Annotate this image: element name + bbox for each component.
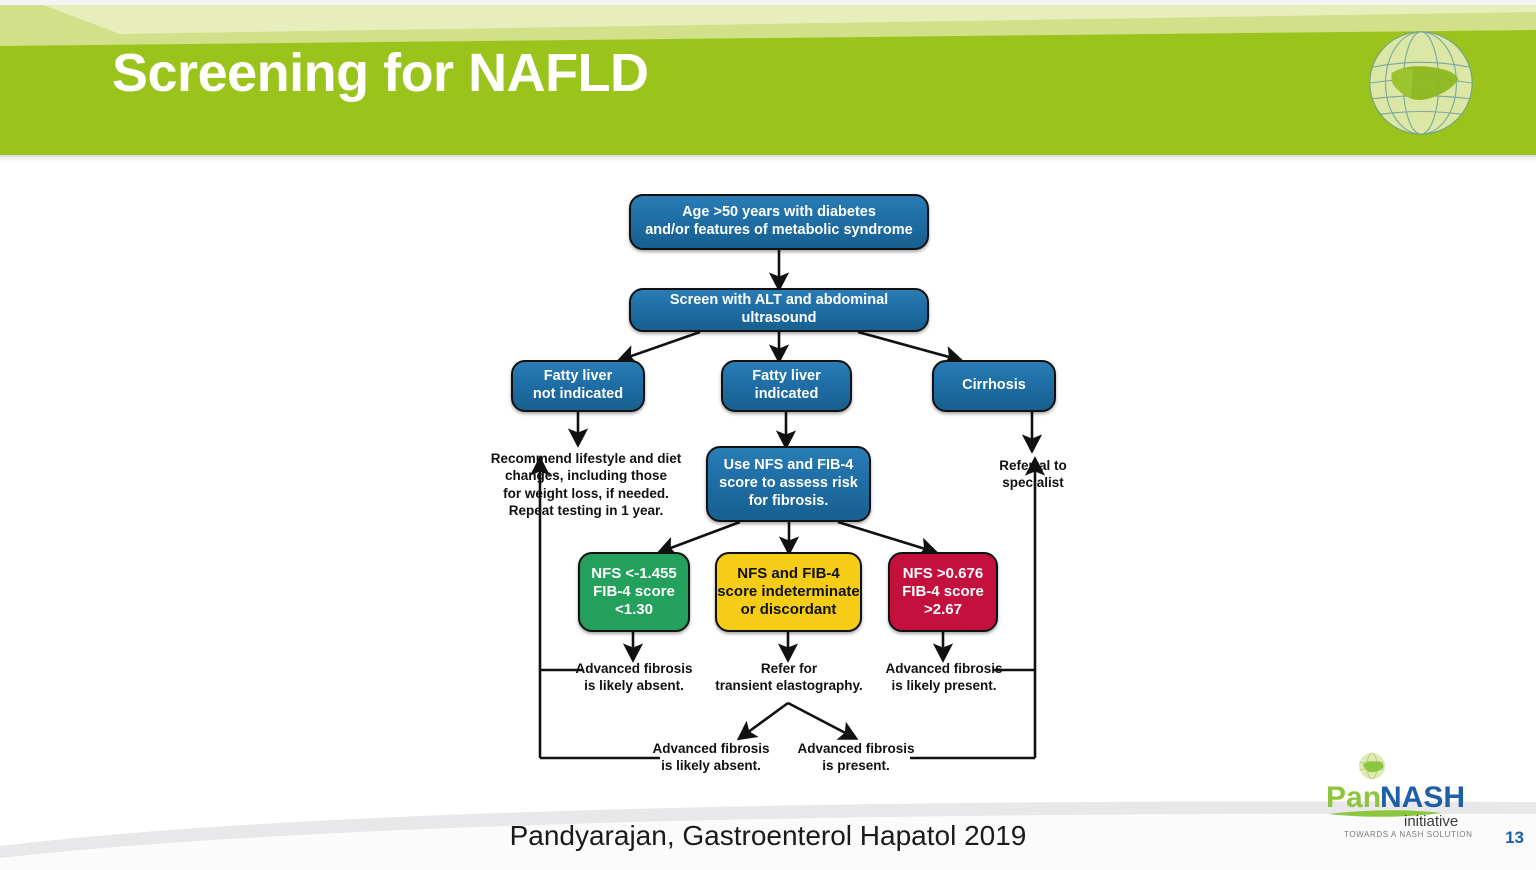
label-referral-line1: Referral to — [962, 457, 1104, 474]
node-high-line2: FIB-4 score — [902, 583, 984, 601]
label-lifestyle-line1: Recommend lifestyle and diet — [478, 450, 694, 467]
logo-text-nash: NASH — [1380, 781, 1465, 814]
node-cirrhosis[interactable]: Cirrhosis — [932, 360, 1056, 412]
node-low-line2: FIB-4 score — [591, 583, 676, 601]
label-absent-bottom-line1: Advanced fibrosis — [627, 740, 795, 757]
label-fibrosis-present-right: Advanced fibrosis is likely present. — [860, 660, 1028, 695]
node-indet-line2: score indeterminate — [717, 583, 860, 601]
node-low-line1: NFS <-1.455 — [591, 565, 676, 583]
node-indeterminate-score[interactable]: NFS and FIB-4 score indeterminate or dis… — [715, 552, 862, 632]
node-scores-line2: score to assess risk — [719, 475, 858, 493]
pannash-logo-svg: Pan NASH initiative TOWARDS A NASH SOLUT… — [1314, 752, 1494, 840]
label-present-right-line1: Advanced fibrosis — [860, 660, 1028, 677]
pannash-globe-icon — [1359, 753, 1385, 779]
node-high-line3: >2.67 — [902, 601, 984, 619]
node-entry-line1: Age >50 years with diabetes — [645, 204, 913, 222]
label-referral-specialist: Referral to specialist — [962, 457, 1104, 492]
node-high-risk-score[interactable]: NFS >0.676 FIB-4 score >2.67 — [888, 552, 998, 632]
label-present-bottom-line2: is present. — [772, 757, 940, 774]
label-lifestyle-line3: for weight loss, if needed. — [478, 485, 694, 502]
node-low-line3: <1.30 — [591, 601, 676, 619]
node-use-nfs-fib4-scores[interactable]: Use NFS and FIB-4 score to assess risk f… — [706, 446, 871, 522]
pannash-globe-liver-icon — [1362, 24, 1480, 142]
label-absent-left-line2: is likely absent. — [551, 677, 717, 694]
node-fatty-ind-line2: indicated — [752, 386, 821, 404]
node-fatty-liver-indicated[interactable]: Fatty liver indicated — [721, 360, 852, 412]
logo-text-tagline: TOWARDS A NASH SOLUTION — [1344, 830, 1473, 839]
citation-text: Pandyarajan, Gastroenterol Hapatol 2019 — [0, 820, 1536, 852]
node-screen-line1: Screen with ALT and abdominal ultrasound — [631, 292, 927, 327]
label-refer-line1: Refer for — [694, 660, 884, 677]
node-indet-line3: or discordant — [717, 601, 860, 619]
pannash-logo: Pan NASH initiative TOWARDS A NASH SOLUT… — [1314, 752, 1494, 840]
label-refer-line2: transient elastography. — [694, 677, 884, 694]
label-fibrosis-absent-bottom: Advanced fibrosis is likely absent. — [627, 740, 795, 775]
label-lifestyle-line4: Repeat testing in 1 year. — [478, 502, 694, 519]
label-absent-left-line1: Advanced fibrosis — [551, 660, 717, 677]
page-title: Screening for NAFLD — [112, 42, 649, 104]
label-fibrosis-present-bottom: Advanced fibrosis is present. — [772, 740, 940, 775]
node-scores-line3: for fibrosis. — [719, 493, 858, 511]
label-lifestyle-line2: changes, including those — [478, 467, 694, 484]
node-indet-line1: NFS and FIB-4 — [717, 565, 860, 583]
label-lifestyle-advice: Recommend lifestyle and diet changes, in… — [478, 450, 694, 519]
node-cirrhosis-line1: Cirrhosis — [962, 377, 1026, 395]
node-fatty-not-line1: Fatty liver — [533, 368, 623, 386]
label-fibrosis-absent-left: Advanced fibrosis is likely absent. — [551, 660, 717, 695]
node-screen-alt-ultrasound[interactable]: Screen with ALT and abdominal ultrasound — [629, 288, 929, 332]
label-refer-elastography: Refer for transient elastography. — [694, 660, 884, 695]
label-referral-line2: specialist — [962, 474, 1104, 491]
node-fatty-not-line2: not indicated — [533, 386, 623, 404]
label-present-right-line2: is likely present. — [860, 677, 1028, 694]
label-absent-bottom-line2: is likely absent. — [627, 757, 795, 774]
page-number: 13 — [1505, 828, 1524, 848]
slide-header: Screening for NAFLD — [0, 0, 1536, 155]
label-present-bottom-line1: Advanced fibrosis — [772, 740, 940, 757]
node-fatty-liver-not-indicated[interactable]: Fatty liver not indicated — [511, 360, 645, 412]
node-high-line1: NFS >0.676 — [902, 565, 984, 583]
slide-canvas: Screening for NAFLD — [0, 0, 1536, 870]
node-scores-line1: Use NFS and FIB-4 — [719, 457, 858, 475]
node-entry-line2: and/or features of metabolic syndrome — [645, 222, 913, 240]
header-divider — [0, 155, 1536, 162]
node-entry-criteria[interactable]: Age >50 years with diabetes and/or featu… — [629, 194, 929, 250]
logo-text-pan: Pan — [1326, 781, 1381, 814]
flowchart-diagram: Age >50 years with diabetes and/or featu… — [0, 162, 1536, 822]
node-low-risk-score[interactable]: NFS <-1.455 FIB-4 score <1.30 — [578, 552, 690, 632]
logo-text-initiative: initiative — [1404, 813, 1458, 830]
node-fatty-ind-line1: Fatty liver — [752, 368, 821, 386]
